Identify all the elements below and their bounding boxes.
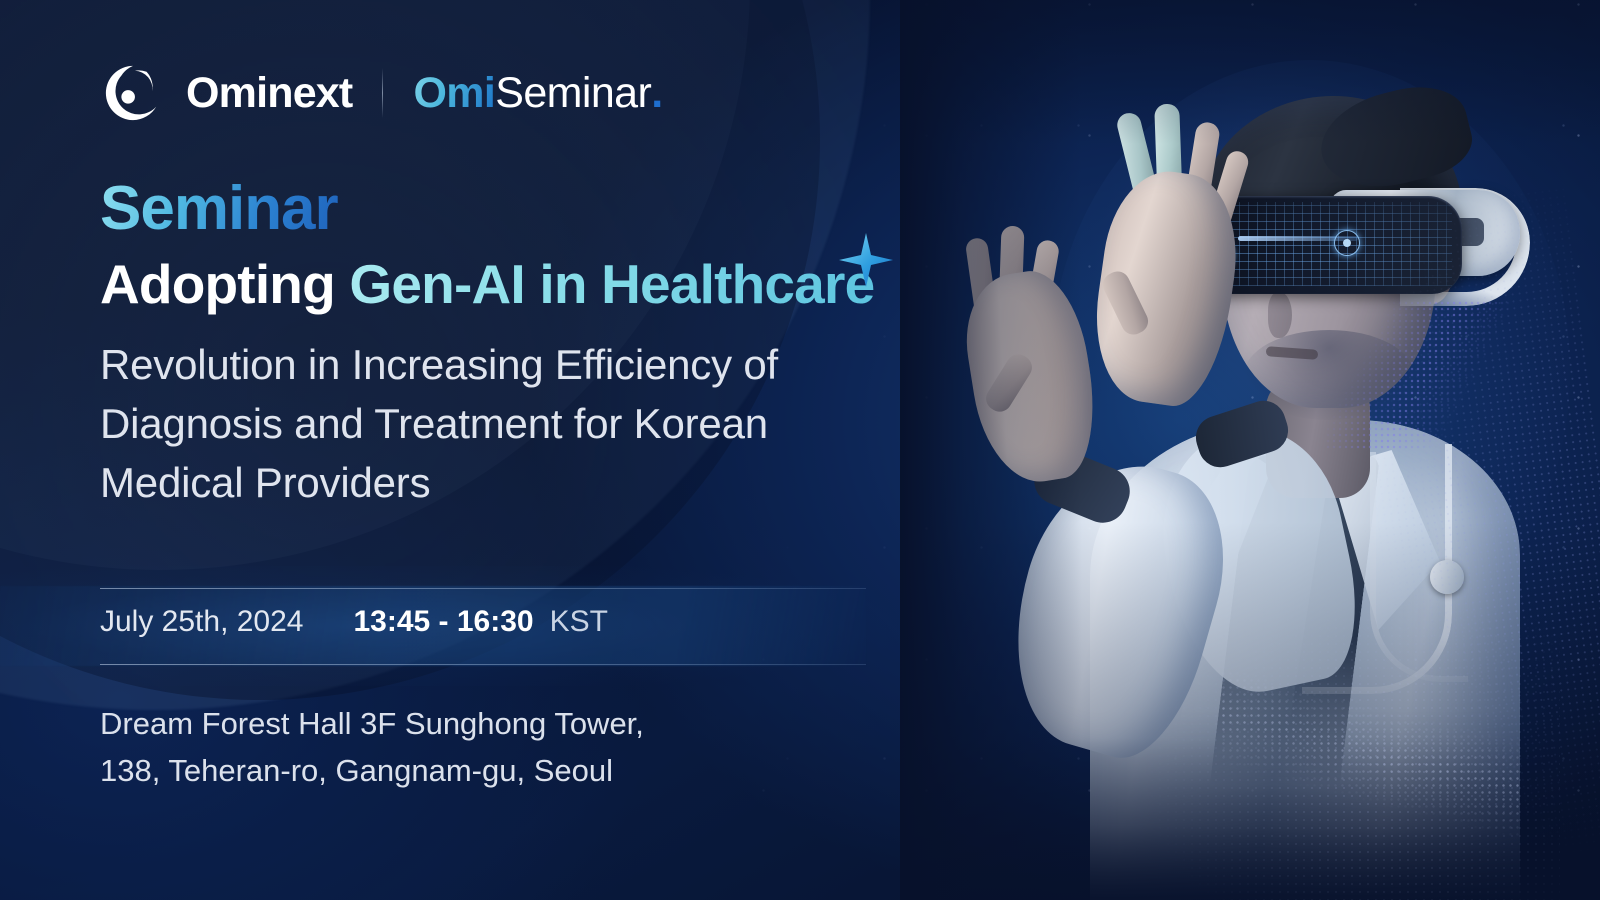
event-time: 13:45 - 16:30 bbox=[353, 605, 533, 639]
nose bbox=[1268, 292, 1292, 338]
four-point-star-sparkle-icon bbox=[838, 232, 894, 288]
product-name-suffix: Seminar bbox=[495, 69, 651, 117]
divider-above-date bbox=[100, 588, 866, 589]
product-name-dot: . bbox=[651, 69, 662, 117]
subtitle: Revolution in Increasing Efficiency of D… bbox=[100, 336, 890, 512]
event-venue-line-2: 138, Teheran-ro, Gangnam-gu, Seoul bbox=[100, 747, 860, 794]
company-name: Ominext bbox=[186, 72, 352, 115]
ominext-spiral-logo-icon bbox=[102, 62, 164, 124]
divider-below-date bbox=[100, 664, 866, 665]
event-datetime-row: July 25th, 2024 13:45 - 16:30 KST bbox=[100, 605, 608, 639]
headline-part-accent: Gen-AI in Healthcare bbox=[349, 253, 874, 315]
event-venue-line-1: Dream Forest Hall 3F Sunghong Tower, bbox=[100, 700, 860, 747]
event-date: July 25th, 2024 bbox=[100, 605, 303, 639]
background-dot-streak-lower bbox=[1220, 670, 1520, 840]
content-column: Ominext OmiSeminar. Seminar Adopting Gen… bbox=[0, 0, 900, 900]
event-venue: Dream Forest Hall 3F Sunghong Tower, 138… bbox=[100, 700, 860, 794]
page-title: Adopting Gen-AI in Healthcare bbox=[100, 255, 874, 314]
product-name-prefix: Omi bbox=[413, 69, 495, 117]
product-name: OmiSeminar. bbox=[413, 72, 662, 115]
kicker-seminar: Seminar bbox=[100, 178, 338, 240]
seminar-promo-banner: Ominext OmiSeminar. Seminar Adopting Gen… bbox=[0, 0, 1600, 900]
logo-divider bbox=[382, 68, 383, 118]
headline-part-white: Adopting bbox=[100, 253, 349, 315]
logo-lockup: Ominext OmiSeminar. bbox=[102, 62, 663, 124]
background-dot-streak-upper bbox=[1325, 300, 1545, 450]
event-timezone: KST bbox=[550, 605, 608, 639]
